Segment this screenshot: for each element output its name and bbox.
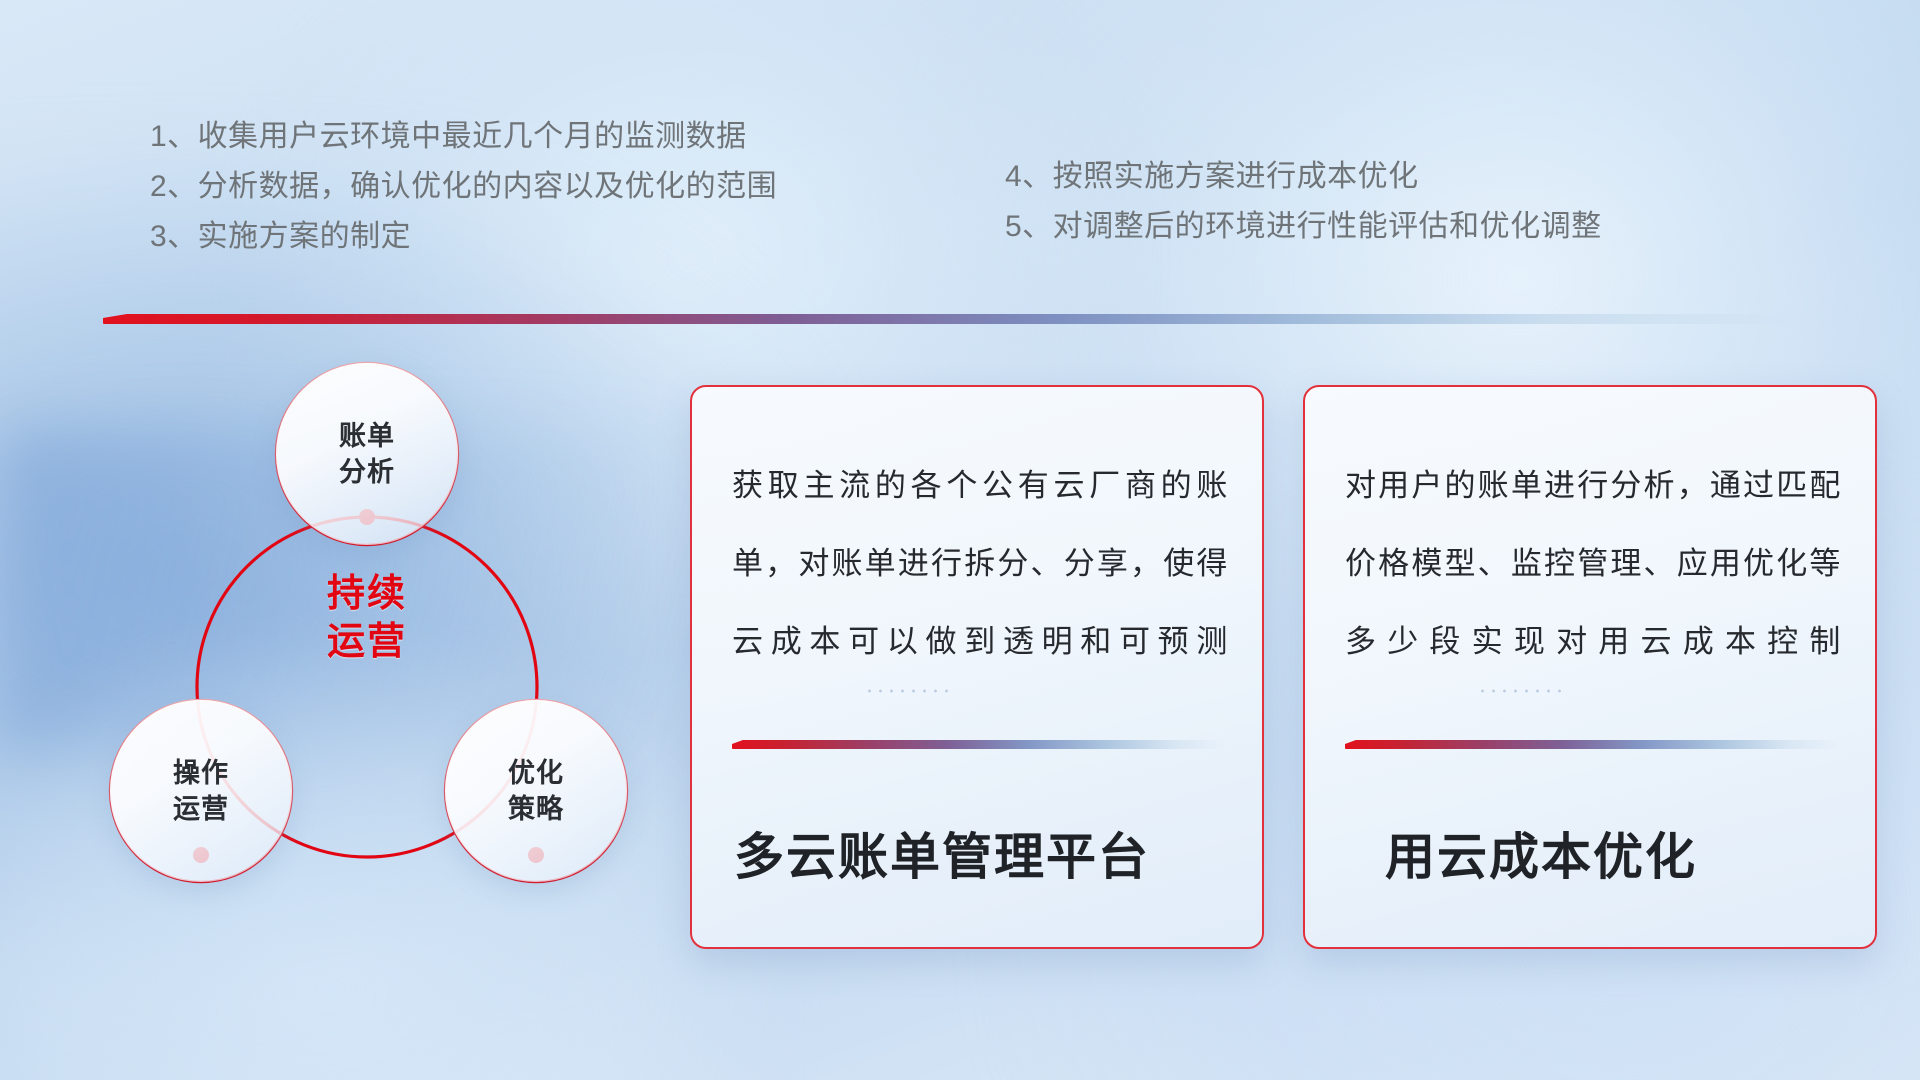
feature-card-2-description: 对用户的账单进行分析，通过匹配价格模型、监控管理、应用优化等多少段实现对用云成本…: [1345, 447, 1841, 681]
feature-card-1-body: 获取主流的各个公有云厂商的账单，对账单进行拆分、分享，使得云成本可以做到透明和可…: [732, 447, 1228, 681]
slide-canvas: 1、收集用户云环境中最近几个月的监测数据 2、分析数据，确认优化的内容以及优化的…: [0, 0, 1920, 1080]
feature-card-2-dot-texture: [1477, 687, 1563, 695]
process-step-2: 2、分析数据，确认优化的内容以及优化的范围: [150, 162, 777, 212]
feature-card-cloud-cost-optimization[interactable]: 对用户的账单进行分析，通过匹配价格模型、监控管理、应用优化等多少段实现对用云成本…: [1303, 385, 1877, 949]
diagram-center-label: 持续 运营: [276, 570, 458, 666]
feature-card-multicloud-billing[interactable]: 获取主流的各个公有云厂商的账单，对账单进行拆分、分享，使得云成本可以做到透明和可…: [690, 385, 1264, 949]
diagram-node-operations-line2: 运营: [173, 791, 229, 827]
feature-card-1-divider: [732, 740, 1226, 749]
process-steps-right-column: 4、按照实施方案进行成本优化 5、对调整后的环境进行性能评估和优化调整: [1005, 152, 1602, 252]
diagram-center-label-line2: 运营: [276, 618, 458, 666]
diagram-node-optimization-strategy-line1: 优化: [508, 755, 564, 791]
diagram-node-optimization-strategy[interactable]: 优化 策略: [445, 700, 627, 882]
process-step-5: 5、对调整后的环境进行性能评估和优化调整: [1005, 202, 1602, 252]
process-step-3: 3、实施方案的制定: [150, 212, 777, 262]
feature-card-2-body: 对用户的账单进行分析，通过匹配价格模型、监控管理、应用优化等多少段实现对用云成本…: [1345, 447, 1841, 681]
feature-card-2-title: 用云成本优化: [1385, 825, 1697, 889]
process-step-1: 1、收集用户云环境中最近几个月的监测数据: [150, 112, 777, 162]
process-steps-left-column: 1、收集用户云环境中最近几个月的监测数据 2、分析数据，确认优化的内容以及优化的…: [150, 112, 777, 262]
diagram-node-operations-line1: 操作: [173, 755, 229, 791]
feature-card-2-divider: [1345, 740, 1839, 749]
diagram-center-label-line1: 持续: [276, 570, 458, 618]
feature-card-1-title: 多云账单管理平台: [734, 825, 1150, 889]
diagram-node-billing-analysis-line2: 分析: [339, 454, 395, 490]
diagram-node-billing-analysis[interactable]: 账单 分析: [276, 363, 458, 545]
process-step-4: 4、按照实施方案进行成本优化: [1005, 152, 1602, 202]
feature-card-1-description: 获取主流的各个公有云厂商的账单，对账单进行拆分、分享，使得云成本可以做到透明和可…: [732, 447, 1228, 681]
diagram-node-billing-analysis-line1: 账单: [339, 418, 395, 454]
feature-card-1-dot-texture: [864, 687, 950, 695]
diagram-node-optimization-strategy-line2: 策略: [508, 791, 564, 827]
section-divider-rule: [103, 314, 1803, 324]
process-steps-list: 1、收集用户云环境中最近几个月的监测数据 2、分析数据，确认优化的内容以及优化的…: [0, 112, 1920, 282]
diagram-node-operations[interactable]: 操作 运营: [110, 700, 292, 882]
continuous-operations-diagram: 账单 分析 操作 运营 优化 策略 持续 运营: [100, 355, 660, 955]
